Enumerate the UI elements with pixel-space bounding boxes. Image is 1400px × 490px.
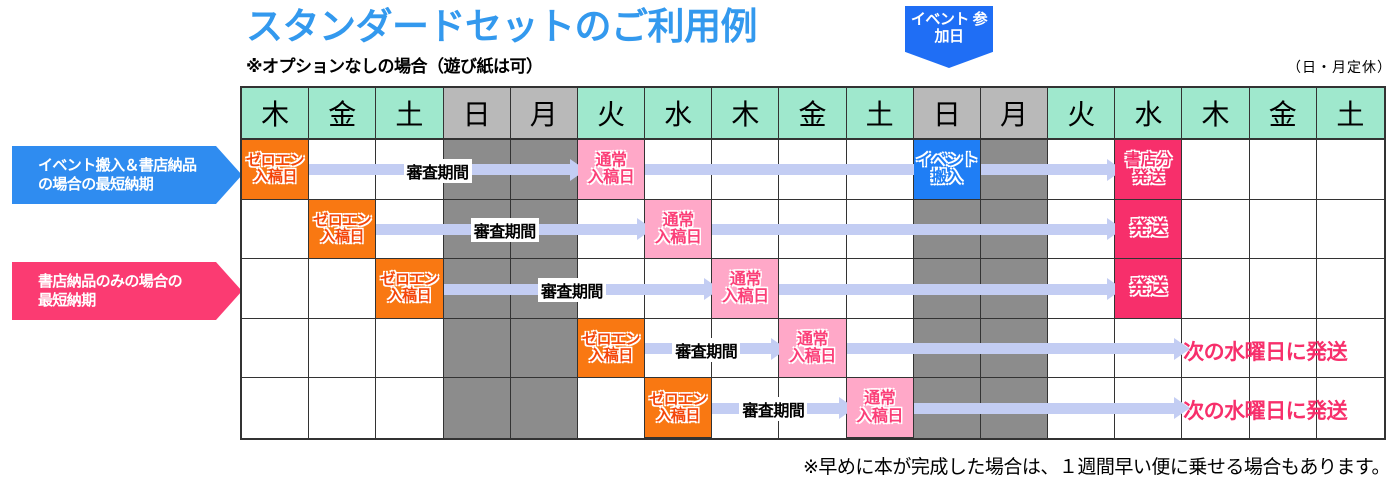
calendar-day-cell <box>242 259 309 319</box>
calendar-header-label: 水 <box>1134 93 1162 133</box>
calendar-header-cell: 水 <box>645 88 712 140</box>
calendar-day-cell <box>376 378 443 438</box>
calendar-header-cell: 木 <box>712 88 779 140</box>
milestone-chip-zeroen: ゼロエン入稿日 <box>578 319 645 379</box>
calendar-day-cell <box>1182 259 1249 319</box>
review-period-label: 審査期間 <box>538 278 606 302</box>
calendar-header-cell: 金 <box>779 88 846 140</box>
calendar-day-cell <box>511 378 578 438</box>
calendar-header-label: 土 <box>1336 93 1364 133</box>
milestone-chip-line: 発送 <box>1133 169 1164 186</box>
calendar-header-cell: 水 <box>1115 88 1182 140</box>
calendar-day-cell <box>444 319 511 379</box>
page-title: スタンダードセットのご利用例 <box>246 8 757 47</box>
milestone-chip-line: ゼロエン <box>582 332 640 348</box>
calendar-header-label: 水 <box>664 93 692 133</box>
calendar-day-cell <box>1250 259 1317 319</box>
milestone-chip-zeroen: ゼロエン入稿日 <box>242 140 309 200</box>
milestone-chip-normal: 通常入稿日 <box>645 200 712 260</box>
calendar-day-cell <box>1250 140 1317 200</box>
milestone-chip-line: 発送 <box>1130 278 1167 299</box>
calendar-grid: 木金土日月火水木金土日月火水木金土審査期間審査期間審査期間審査期間次の水曜日に発… <box>240 86 1386 440</box>
review-period-label: 審査期間 <box>471 218 539 242</box>
milestone-chip-line: ゼロエン <box>649 392 707 408</box>
review-period-label: 審査期間 <box>739 397 807 421</box>
calendar-day-cell <box>578 378 645 438</box>
milestone-chip-line: ゼロエン <box>313 213 371 229</box>
calendar-header-label: 月 <box>530 93 558 133</box>
calendar-header-cell: 金 <box>309 88 376 140</box>
milestone-chip-event: イベント搬入 <box>914 140 981 200</box>
milestone-chip-line: 入稿日 <box>321 229 365 245</box>
milestone-chip-normal: 通常入稿日 <box>578 140 645 200</box>
milestone-chip-line: 書店分 <box>1125 152 1172 169</box>
milestone-chip-zeroen: ゼロエン入稿日 <box>309 200 376 260</box>
milestone-chip-line: 入稿日 <box>388 288 432 304</box>
calendar-header-label: 木 <box>731 93 759 133</box>
milestone-chip-line: 搬入 <box>931 169 962 186</box>
milestone-chip-line: イベント <box>916 152 978 169</box>
calendar-header-cell: 木 <box>242 88 309 140</box>
milestone-chip-line: 入稿日 <box>589 348 633 364</box>
calendar-header-cell: 金 <box>1250 88 1317 140</box>
milestone-chip-line: 通常 <box>663 212 694 229</box>
calendar-day-cell <box>511 319 578 379</box>
process-arrow <box>910 403 1175 414</box>
milestone-chip-line: 発送 <box>1130 219 1167 240</box>
calendar-day-cell <box>1317 259 1384 319</box>
calendar-header-label: 火 <box>597 93 625 133</box>
calendar-header-cell: 月 <box>981 88 1048 140</box>
banner-1-line1: 書店納品のみの場合の <box>38 272 182 291</box>
process-arrow <box>708 224 1107 235</box>
calendar-header-label: 日 <box>933 93 961 133</box>
milestone-chip-normal: 通常入稿日 <box>847 378 914 438</box>
calendar-day-cell <box>1250 200 1317 260</box>
process-arrow <box>843 343 1175 354</box>
milestone-chip-line: ゼロエン <box>246 153 304 169</box>
schedule-diagram: スタンダードセットのご利用例 ※オプションなしの場合（遊び紙は可） （日・月定休… <box>0 0 1400 490</box>
calendar-header-cell: 日 <box>444 88 511 140</box>
calendar-day-cell <box>242 200 309 260</box>
milestone-chip-line: 通常 <box>797 331 828 348</box>
milestone-chip-ship: 発送 <box>1115 259 1182 319</box>
closed-days-note: （日・月定休） <box>1287 57 1392 77</box>
calendar-day-cell <box>242 378 309 438</box>
milestone-chip-line: 入稿日 <box>253 169 297 185</box>
calendar-header-cell: 土 <box>376 88 443 140</box>
milestone-chip-line: 入稿日 <box>656 408 700 424</box>
milestone-chip-line: 入稿日 <box>655 229 702 246</box>
calendar-header-label: 木 <box>261 93 289 133</box>
review-period-label: 審査期間 <box>672 338 740 362</box>
calendar-day-cell <box>242 319 309 379</box>
process-arrow <box>641 164 1107 175</box>
event-day-badge: イベント 参加日 <box>905 6 993 68</box>
calendar-header-cell: 月 <box>511 88 578 140</box>
milestone-chip-zeroen: ゼロエン入稿日 <box>645 378 712 438</box>
calendar-header-label: 土 <box>866 93 894 133</box>
calendar-day-cell <box>309 319 376 379</box>
calendar-day-cell <box>1182 140 1249 200</box>
milestone-chip-normal: 通常入稿日 <box>712 259 779 319</box>
calendar-header-cell: 木 <box>1182 88 1249 140</box>
calendar-day-cell <box>376 319 443 379</box>
calendar-day-cell <box>1317 140 1384 200</box>
milestone-chip-normal: 通常入稿日 <box>779 319 846 379</box>
banner-1-line2: 最短納期 <box>38 291 182 310</box>
calendar-header-cell: 土 <box>847 88 914 140</box>
calendar-header-label: 月 <box>1000 93 1028 133</box>
banner-0-line1: イベント搬入＆書店納品 <box>38 156 196 175</box>
milestone-chip-line: 通常 <box>595 152 626 169</box>
calendar-header-cell: 火 <box>1048 88 1115 140</box>
calendar-day-cell <box>444 378 511 438</box>
milestone-chip-ship: 書店分発送 <box>1115 140 1182 200</box>
calendar-header-label: 金 <box>1269 93 1297 133</box>
next-wednesday-shipping-label: 次の水曜日に発送 <box>1183 395 1347 425</box>
calendar-header-label: 木 <box>1202 93 1230 133</box>
calendar-header-cell: 土 <box>1317 88 1384 140</box>
calendar-day-cell <box>309 378 376 438</box>
footnote: ※早めに本が完成した場合は、１週間早い便に乗せる場合もあります。 <box>803 452 1390 479</box>
calendar-header-label: 火 <box>1067 93 1095 133</box>
banner-bookstore-only: 書店納品のみの場合の 最短納期 <box>12 262 242 320</box>
calendar-header-label: 金 <box>328 93 356 133</box>
calendar-header-cell: 日 <box>914 88 981 140</box>
milestone-chip-line: 入稿日 <box>856 408 903 425</box>
calendar-header-label: 金 <box>798 93 826 133</box>
calendar-header-label: 日 <box>463 93 491 133</box>
milestone-chip-line: 入稿日 <box>588 169 635 186</box>
next-wednesday-shipping-label: 次の水曜日に発送 <box>1183 336 1347 366</box>
milestone-chip-line: 入稿日 <box>789 348 836 365</box>
calendar-day-cell <box>1182 200 1249 260</box>
process-arrow <box>775 284 1107 295</box>
review-period-label: 審査期間 <box>404 159 472 183</box>
page-subtitle: ※オプションなしの場合（遊び紙は可） <box>246 52 543 77</box>
banner-0-line2: の場合の最短納期 <box>38 175 196 194</box>
calendar-day-cell <box>1317 200 1384 260</box>
milestone-chip-ship: 発送 <box>1115 200 1182 260</box>
calendar-day-cell <box>309 259 376 319</box>
milestone-chip-line: 通常 <box>730 271 761 288</box>
banner-event-and-bookstore: イベント搬入＆書店納品 の場合の最短納期 <box>12 146 242 204</box>
event-badge-line1: イベント <box>911 11 969 28</box>
calendar-header-label: 土 <box>395 93 423 133</box>
milestone-chip-zeroen: ゼロエン入稿日 <box>376 259 443 319</box>
milestone-chip-line: 入稿日 <box>722 288 769 305</box>
milestone-chip-line: 通常 <box>864 390 895 407</box>
calendar-header-cell: 火 <box>578 88 645 140</box>
